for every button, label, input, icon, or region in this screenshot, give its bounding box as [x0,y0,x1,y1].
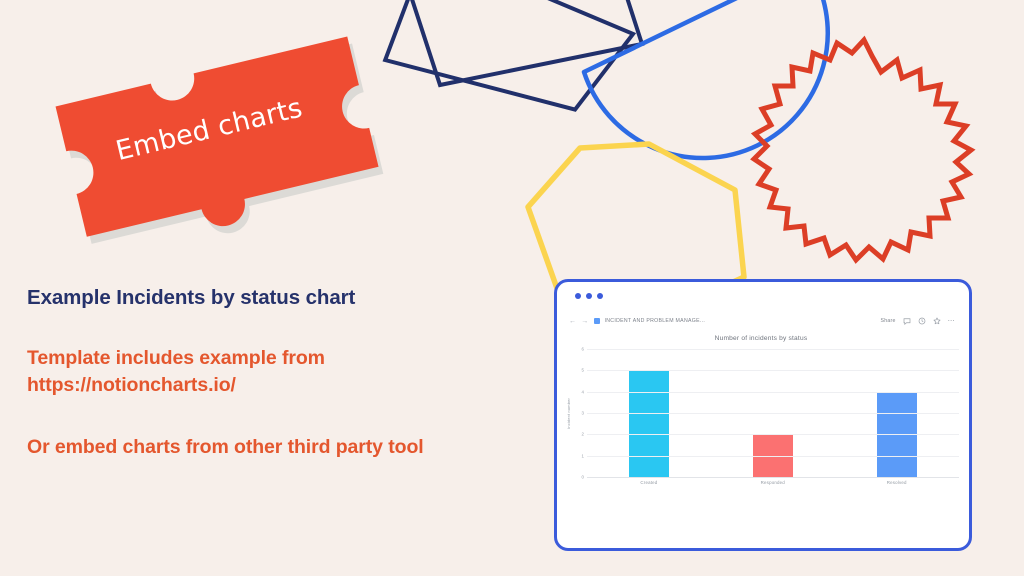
star-icon[interactable] [933,317,941,325]
y-tick-label: 5 [582,368,584,373]
x-tick-label: Responded [711,480,835,485]
navy-square-outline [383,0,642,118]
y-tick-label: 4 [582,389,584,394]
copy-paragraph-1: Template includes example from https://n… [27,345,527,399]
copy-paragraph-2: Or embed charts from other third party t… [27,434,527,461]
bar[interactable] [629,370,669,477]
arrow-right-icon[interactable]: → [581,318,588,325]
x-axis-labels: CreatedRespondedResolved [587,480,959,485]
gridline [587,349,959,350]
chart-title: Number of incidents by status [563,335,959,342]
y-axis-ticks: 6543210 [574,349,587,477]
gridline [587,413,959,414]
ellipsis-icon[interactable]: ⋯ [948,318,955,325]
incidents-bar-chart: Number of incidents by status Incident n… [563,335,959,495]
app-window: ← → INCIDENT AND PROBLEM MANAGE... Share [554,279,972,551]
y-axis-label: Incident number [563,349,574,477]
plot-canvas [587,349,959,477]
window-dot-1[interactable] [575,293,581,299]
y-tick-label: 2 [582,432,584,437]
share-button[interactable]: Share [881,318,896,324]
window-dot-3[interactable] [597,293,603,299]
embed-charts-puzzle-piece: Embed charts [44,4,384,244]
clock-icon[interactable] [918,317,926,325]
comment-icon[interactable] [903,317,911,325]
x-tick-label: Created [587,480,711,485]
notion-toolbar: ← → INCIDENT AND PROBLEM MANAGE... Share [557,310,969,332]
page-title: Example Incidents by status chart [27,285,527,311]
toolbar-right-group: Share ⋯ [881,317,956,325]
gridline [587,370,959,371]
y-tick-label: 6 [582,347,584,352]
gridline [587,456,959,457]
red-starburst-outline [754,40,971,260]
y-tick-label: 3 [582,411,584,416]
blue-pie-wedge-outline [584,0,828,158]
gridline [587,392,959,393]
arrow-left-icon[interactable]: ← [569,318,576,325]
gridline [587,434,959,435]
breadcrumb[interactable]: INCIDENT AND PROBLEM MANAGE... [605,318,706,324]
copy-block: Example Incidents by status chart Templa… [27,285,527,461]
window-titlebar [557,282,969,310]
y-tick-label: 1 [582,453,584,458]
y-tick-label: 0 [582,475,584,480]
window-dot-2[interactable] [586,293,592,299]
chart-plot-row: Incident number 6543210 [563,349,959,477]
toolbar-left-group: ← → INCIDENT AND PROBLEM MANAGE... [569,318,881,325]
x-tick-label: Resolved [835,480,959,485]
gridline [587,477,959,478]
page-icon [594,318,600,324]
